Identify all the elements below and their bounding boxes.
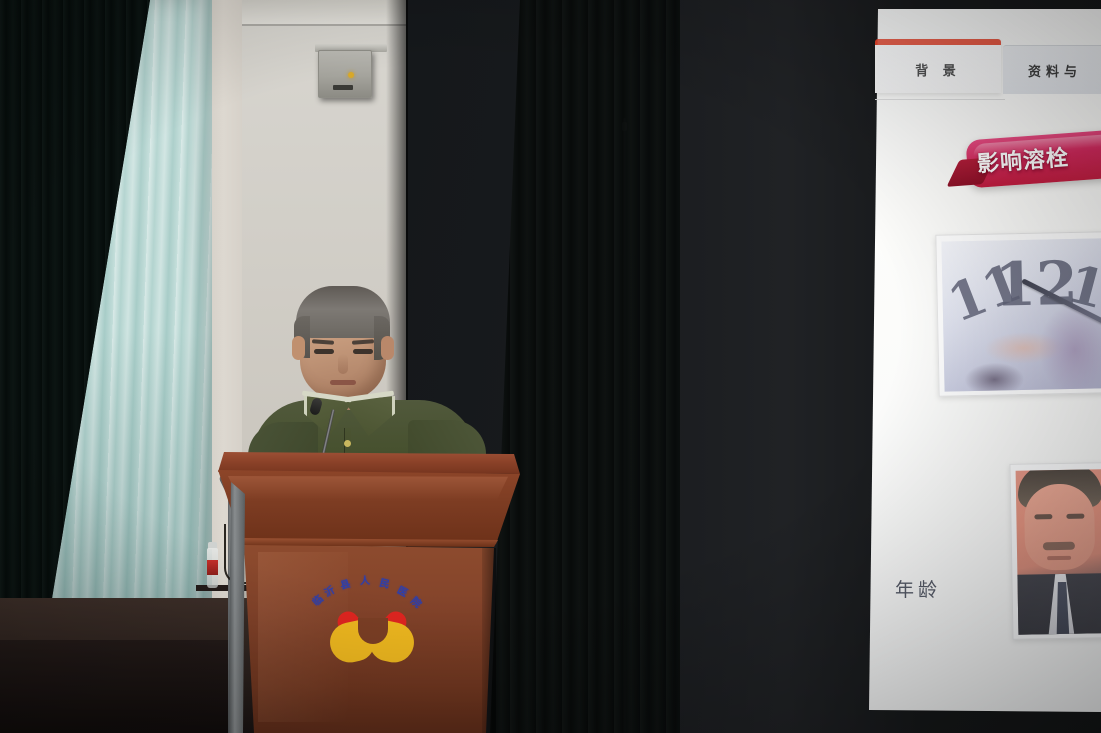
wall-edge-line [234, 24, 406, 26]
portrait-eye-left [1034, 514, 1052, 519]
slide-tab-bar: 背 景 资料与 [869, 29, 1101, 89]
clock-photo-image: 11 12 1 [941, 238, 1101, 391]
hospital-name-arc: 临 沂 县 人 民 医 院 [310, 570, 432, 610]
podium-right-shadow [482, 548, 496, 733]
water-bottle-label [207, 560, 218, 575]
wall-top-trim [234, 0, 406, 24]
mount-vent-slot [333, 85, 353, 90]
projection-screen-content: 背 景 资料与 影响溶栓 11 12 1 [869, 9, 1101, 712]
portrait-photo-image [1016, 469, 1101, 634]
podium-apron-highlight [228, 476, 508, 500]
portrait-eye-right [1066, 514, 1084, 519]
emblem-char-1: 沂 [321, 582, 337, 600]
emblem-char-0: 临 [308, 591, 325, 609]
speaker-nose [338, 354, 348, 374]
portrait-photo-frame [1009, 462, 1101, 640]
podium-left-post [228, 482, 245, 733]
slide-tab-underline [875, 99, 1005, 100]
portrait-moustache [1043, 542, 1075, 551]
slide-caption-age: 年龄 [895, 575, 941, 602]
emblem-char-6: 院 [408, 593, 425, 611]
clock-photo-blur-cool [1039, 304, 1101, 391]
lecture-hall-photo: 临 沂 县 人 民 医 院 背 景 资料与 影响溶栓 [0, 0, 1101, 733]
hands-icon [330, 622, 414, 662]
clock-photo-shadow [964, 362, 1025, 392]
speaker-mouth [330, 380, 356, 385]
clock-photo-frame: 11 12 1 [935, 231, 1101, 397]
emblem-char-3: 人 [360, 572, 371, 587]
emblem-char-2: 县 [338, 575, 352, 592]
podium: 临 沂 县 人 民 医 院 [218, 452, 520, 733]
slide-tab-materials[interactable]: 资料与 [1003, 45, 1101, 94]
emblem-char-5: 医 [395, 582, 411, 600]
speaker-eye-right [353, 349, 373, 354]
power-led-icon [348, 72, 354, 78]
projector-mount-box [318, 50, 372, 98]
speaker-eye-left [314, 349, 334, 354]
speaker-ear-left [292, 336, 305, 360]
stage-floor-shadow [0, 640, 240, 733]
speaker-ear-right [381, 336, 394, 360]
shirt-button-top [344, 440, 351, 447]
emblem-char-4: 民 [378, 574, 391, 591]
slide-tab-background[interactable]: 背 景 [875, 39, 1001, 93]
hospital-emblem: 临 沂 县 人 民 医 院 [310, 570, 432, 664]
portrait-mouth [1047, 556, 1071, 560]
water-bottle [207, 548, 218, 588]
